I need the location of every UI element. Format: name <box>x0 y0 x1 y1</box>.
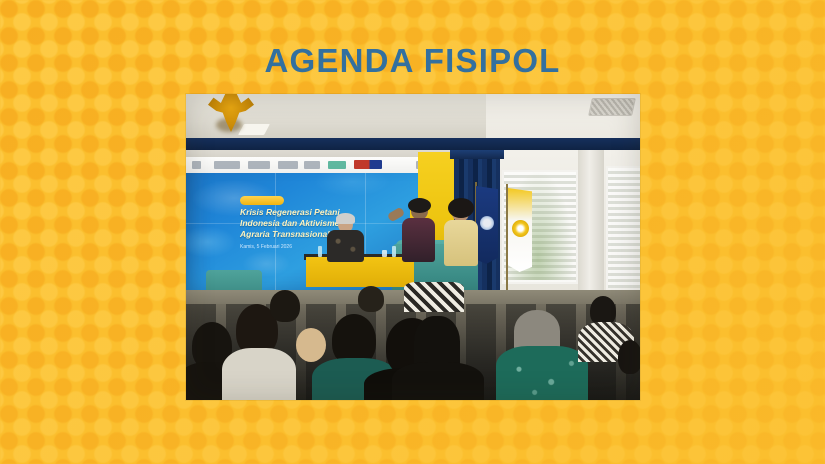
audience-head <box>358 286 384 312</box>
audience-checkered-shirt <box>404 282 464 312</box>
white-flag-emblem-icon <box>512 220 529 237</box>
slide-logo-3 <box>248 161 270 169</box>
blue-flag-emblem-icon <box>480 216 494 230</box>
water-bottle <box>318 246 322 257</box>
speaker-moderator-body <box>327 230 364 262</box>
slide-badge <box>240 196 284 205</box>
slide-logo-1 <box>192 161 201 169</box>
audience-head <box>270 290 300 322</box>
poster-canvas: AGENDA FISIPOL Krisis Reg <box>0 0 825 464</box>
page-title: AGENDA FISIPOL <box>0 42 825 80</box>
speaker-moderator-hair <box>336 213 355 224</box>
event-photo: Krisis Regenerasi Petani Indonesia dan A… <box>186 94 640 400</box>
slide-logo-7 <box>354 160 382 169</box>
speaker-presenter-hair <box>408 198 431 213</box>
water-bottle <box>392 246 396 257</box>
audience-shoulders <box>222 348 296 400</box>
audience-head <box>618 340 640 374</box>
audience-shoulders <box>392 362 484 400</box>
slide-logo-4 <box>278 161 298 169</box>
speaker-panelist-body <box>444 220 478 266</box>
ac-vent-icon <box>588 98 636 116</box>
slide-logo-6 <box>328 161 346 169</box>
drinking-glass <box>382 250 387 257</box>
wall-navy-band <box>186 138 640 150</box>
audience-head <box>296 328 326 362</box>
speaker-panelist-hair <box>448 198 474 218</box>
curtain-rod <box>450 150 504 159</box>
slide-logo-2 <box>214 161 240 169</box>
window-right <box>606 166 640 290</box>
slide-logo-5 <box>304 161 320 169</box>
audience-green-batik-shirt <box>496 346 588 400</box>
flagpole-right <box>506 184 508 294</box>
speaker-presenter-body <box>402 218 435 262</box>
